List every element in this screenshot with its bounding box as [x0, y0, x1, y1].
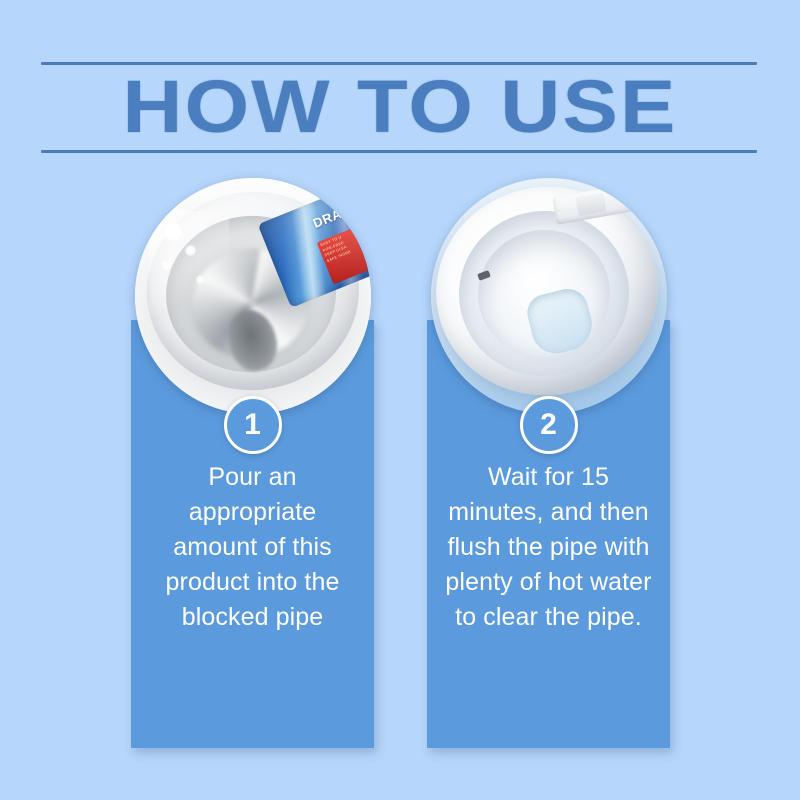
- toilet-flushing-photo: DRAI EASY TO U PIPE-FREE DEEP CLEA SAFE …: [135, 178, 371, 414]
- step-1-photo-wrap: DRAI EASY TO U PIPE-FREE DEEP CLEA SAFE …: [135, 178, 371, 414]
- step-number-badge-2: 2: [520, 396, 578, 454]
- page-title: HOW TO USE: [0, 68, 800, 146]
- clean-toilet-photo: [431, 178, 667, 414]
- header-rule-bottom: [41, 150, 757, 153]
- water-splash: [149, 211, 229, 315]
- steps-container: DRAI EASY TO U PIPE-FREE DEEP CLEA SAFE …: [0, 160, 800, 800]
- step-2-photo-wrap: [431, 178, 667, 414]
- step-caption-2: Wait for 15 minutes, and then flush the …: [427, 460, 670, 635]
- step-caption-1: Pour an appropriate amount of this produ…: [131, 460, 374, 635]
- header: HOW TO USE: [0, 0, 800, 170]
- step-number-badge-1: 1: [224, 396, 282, 454]
